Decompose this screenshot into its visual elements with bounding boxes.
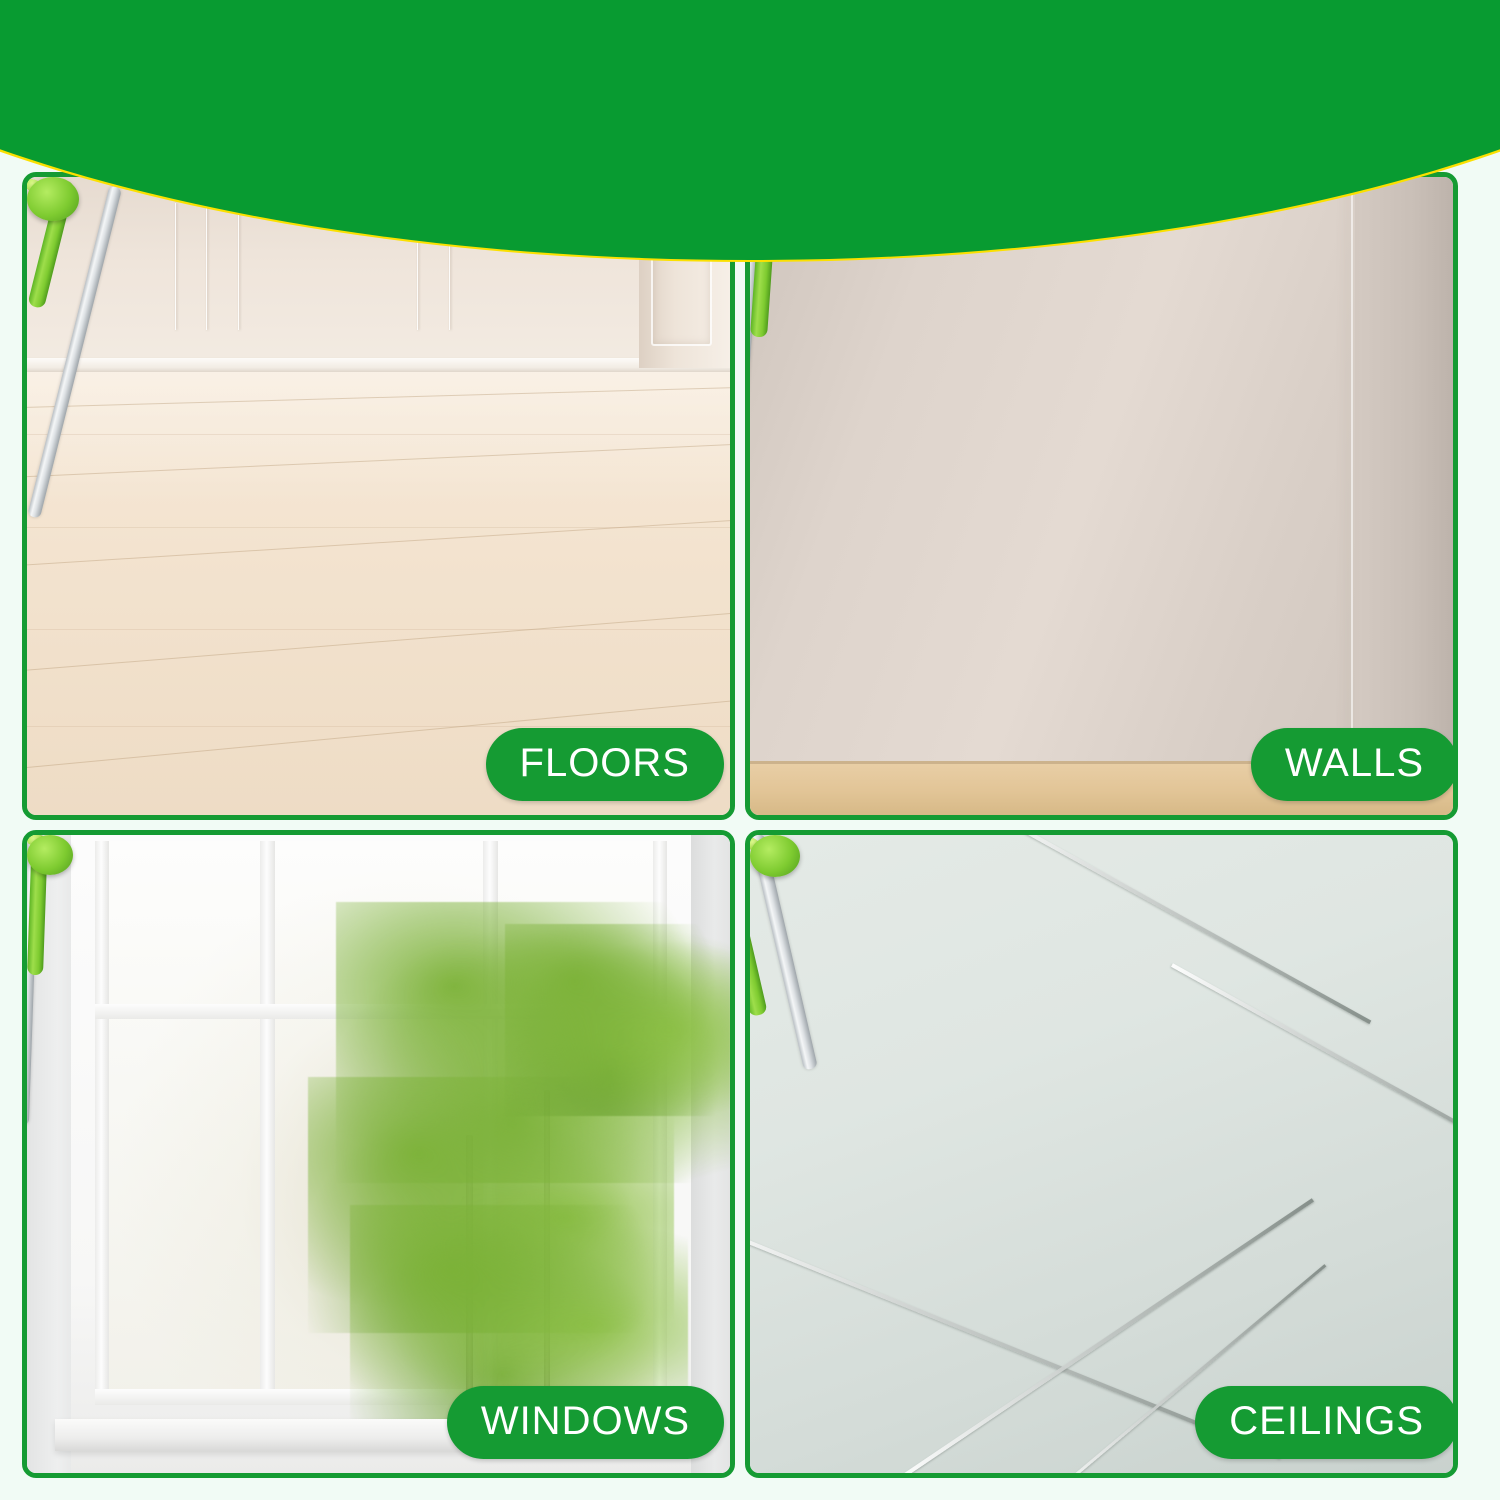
wall-corner-line — [1351, 177, 1353, 764]
label-pill-ceilings: CEILINGS — [1195, 1386, 1458, 1459]
feature-cell-ceilings[interactable]: CEILINGS — [745, 830, 1458, 1478]
door-frame — [639, 177, 730, 368]
feature-cell-walls[interactable]: WALLS — [745, 172, 1458, 820]
side-wall — [1355, 177, 1453, 764]
label-pill-floors: FLOORS — [486, 728, 724, 801]
walls-scene — [750, 177, 1453, 815]
page-title: Highly Absorbent & Multifunctional — [0, 52, 1500, 128]
label-pill-walls: WALLS — [1251, 728, 1458, 801]
feature-grid: FLOORS — [22, 172, 1478, 1478]
floors-scene — [27, 177, 730, 815]
ceilings-scene — [750, 835, 1453, 1473]
feature-cell-windows[interactable]: WINDOWS — [22, 830, 735, 1478]
wainscot-wall — [27, 177, 730, 368]
ceiling-tiles — [750, 835, 1453, 1473]
painted-wall — [750, 177, 1453, 815]
feature-cell-floors[interactable]: FLOORS — [22, 172, 735, 820]
windows-scene — [27, 835, 730, 1473]
label-pill-windows: WINDOWS — [447, 1386, 724, 1459]
